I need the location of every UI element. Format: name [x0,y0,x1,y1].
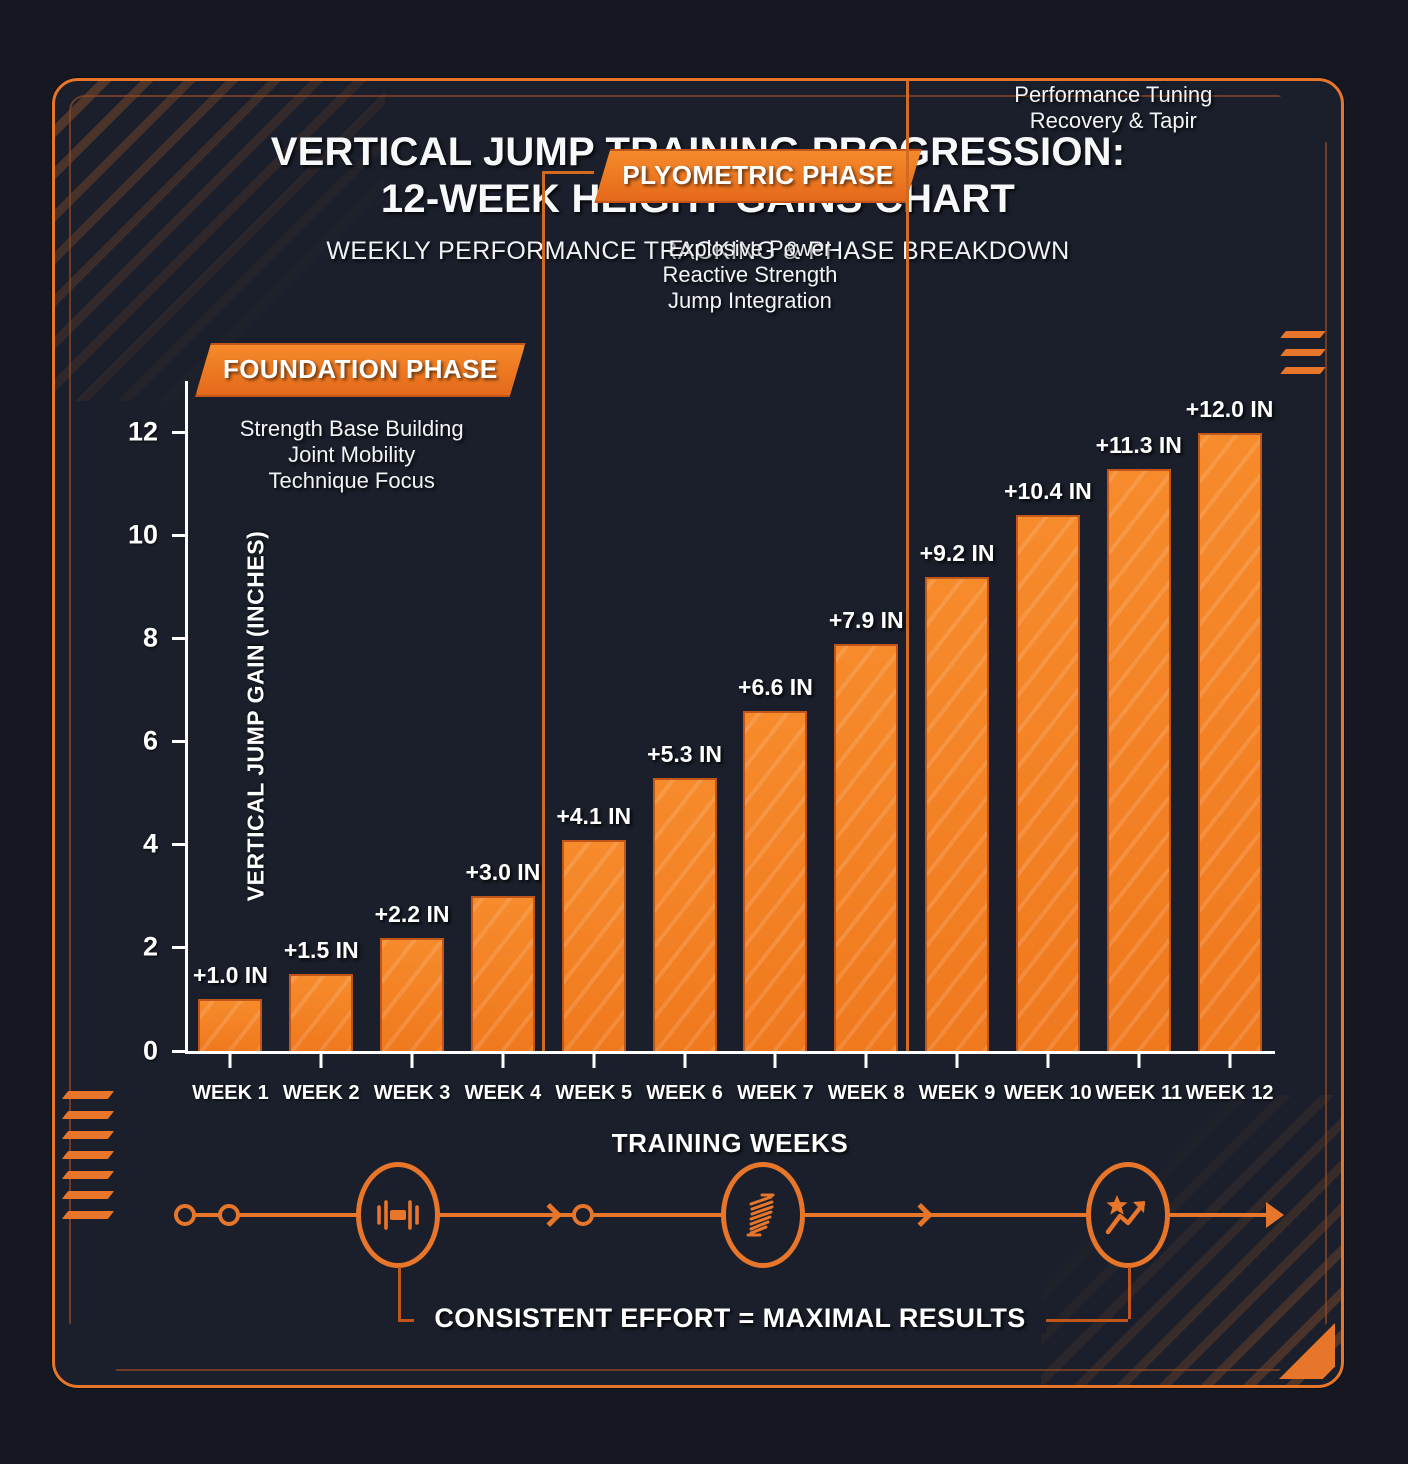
phase-description: Maximal OutputPerformance TuningRecovery… [952,78,1275,134]
bar-slot: +4.1 INWEEK 5 [548,381,639,1051]
x-tick-label: WEEK 9 [919,1082,996,1105]
bar[interactable] [562,840,626,1051]
bar-slot: +9.2 INWEEK 9 [912,381,1003,1051]
bar[interactable] [380,938,444,1051]
bar-value-label: +7.9 IN [829,607,904,634]
bar-value-label: +1.5 IN [284,937,359,964]
bar-value-label: +4.1 IN [556,803,631,830]
y-tick: 12 [172,431,185,434]
phase-bullet: Explosive Power [588,236,911,262]
chart-plot-area: VERTICAL JUMP GAIN (INCHES) 024681012 +1… [185,381,1275,1051]
phase-description: Strength Base BuildingJoint MobilityTech… [190,416,513,494]
timeline-chevron-1 [538,1203,562,1227]
y-tick-label: 6 [143,726,158,757]
phase-bullet: Recovery & Tapir [952,108,1275,134]
bar-slot: +11.3 INWEEK 11 [1093,381,1184,1051]
x-tick-label: WEEK 10 [1004,1082,1092,1105]
x-tick [501,1054,504,1068]
x-tick [1137,1054,1140,1068]
star-growth-icon [1104,1192,1152,1238]
timeline-dot-2 [572,1204,594,1226]
y-tick: 4 [172,843,185,846]
x-tick-label: WEEK 3 [374,1082,451,1105]
bar[interactable] [834,644,898,1051]
bar-slot: +7.9 INWEEK 8 [821,381,912,1051]
phase-bullet: Technique Focus [190,468,513,494]
y-tick: 0 [172,1050,185,1053]
dumbbell-icon [374,1195,422,1235]
progress-timeline [185,1155,1275,1275]
bar-value-label: +10.4 IN [1004,478,1092,505]
phase-banner[interactable]: PLYOMETRIC PHASE [594,149,921,203]
x-axis-line [185,1051,1275,1054]
bar-value-label: +5.3 IN [647,741,722,768]
phase-divider [542,171,545,1051]
y-tick: 6 [172,740,185,743]
phase-banner[interactable]: FOUNDATION PHASE [195,343,526,397]
bar[interactable] [1107,469,1171,1051]
bar[interactable] [1198,433,1262,1051]
y-tick: 2 [172,946,185,949]
bar-value-label: +2.2 IN [375,901,450,928]
timeline-end-arrow [1266,1202,1284,1228]
x-tick-label: WEEK 4 [465,1082,542,1105]
bar-slot: +10.4 INWEEK 10 [1003,381,1094,1051]
bar[interactable] [471,896,535,1051]
timeline-dot-3 [174,1204,196,1226]
phase-bullet: Performance Tuning [952,82,1275,108]
bar-value-label: +6.6 IN [738,674,813,701]
phase-bullet: Joint Mobility [190,442,513,468]
timeline-start-dot [218,1204,240,1226]
phase-bullet: Jump Integration [588,288,911,314]
slash-decoration-left [65,1091,111,1231]
bar[interactable] [198,999,262,1051]
corner-accent-triangle [1279,1323,1335,1379]
y-tick-label: 10 [128,520,158,551]
slash-decoration-right [1283,331,1323,385]
x-tick-label: WEEK 2 [283,1082,360,1105]
x-tick [1046,1054,1049,1068]
bar-slot: +5.3 INWEEK 6 [639,381,730,1051]
x-tick [865,1054,868,1068]
x-tick-label: WEEK 1 [192,1082,269,1105]
infographic-root: VERTICAL JUMP TRAINING PROGRESSION: 12-W… [0,0,1408,1464]
x-tick [683,1054,686,1068]
x-tick-label: WEEK 6 [646,1082,723,1105]
phase-connector [542,171,594,174]
bar-value-label: +9.2 IN [920,540,995,567]
y-tick: 10 [172,534,185,537]
bracket-crossbar [398,1319,1128,1322]
tagline-text: CONSISTENT EFFORT = MAXIMAL RESULTS [414,1303,1045,1333]
phase-bullet: Strength Base Building [190,416,513,442]
tagline-bracket: CONSISTENT EFFORT = MAXIMAL RESULTS [185,1267,1275,1347]
bar-value-label: +11.3 IN [1096,432,1182,459]
x-tick-label: WEEK 5 [555,1082,632,1105]
x-tick [774,1054,777,1068]
x-tick-label: WEEK 8 [828,1082,905,1105]
y-tick-label: 2 [143,932,158,963]
x-tick [320,1054,323,1068]
bar[interactable] [1016,515,1080,1051]
y-tick-label: 0 [143,1035,158,1066]
bar[interactable] [925,577,989,1051]
phase-divider [906,78,909,1051]
y-tick: 8 [172,637,185,640]
bar[interactable] [653,778,717,1051]
tagline: CONSISTENT EFFORT = MAXIMAL RESULTS [185,1303,1275,1334]
bar-value-label: +3.0 IN [466,859,541,886]
phase-bullet: Reactive Strength [588,262,911,288]
bar-slot: +6.6 INWEEK 7 [730,381,821,1051]
bar[interactable] [743,711,807,1051]
y-tick-label: 12 [128,417,158,448]
bar-value-label: +12.0 IN [1186,396,1274,423]
bar-slot: +12.0 INWEEK 12 [1184,381,1275,1051]
x-tick [229,1054,232,1068]
x-tick [592,1054,595,1068]
x-tick-label: WEEK 12 [1186,1082,1274,1105]
x-tick [411,1054,414,1068]
x-tick-label: WEEK 7 [737,1082,814,1105]
y-tick-label: 4 [143,829,158,860]
star-growth-icon-node[interactable] [1086,1162,1170,1268]
spring-coil-icon [740,1190,786,1240]
x-tick [1228,1054,1231,1068]
spring-coil-icon-node[interactable] [721,1162,805,1268]
bar-value-label: +1.0 IN [193,962,268,989]
chart-frame: VERTICAL JUMP TRAINING PROGRESSION: 12-W… [52,78,1344,1388]
phase-description: Explosive PowerReactive StrengthJump Int… [588,236,911,314]
bar[interactable] [289,974,353,1051]
x-tick-label: WEEK 11 [1095,1082,1182,1105]
x-tick [956,1054,959,1068]
dumbbell-icon-node[interactable] [356,1162,440,1268]
y-tick-label: 8 [143,623,158,654]
timeline-chevron-2 [909,1203,933,1227]
